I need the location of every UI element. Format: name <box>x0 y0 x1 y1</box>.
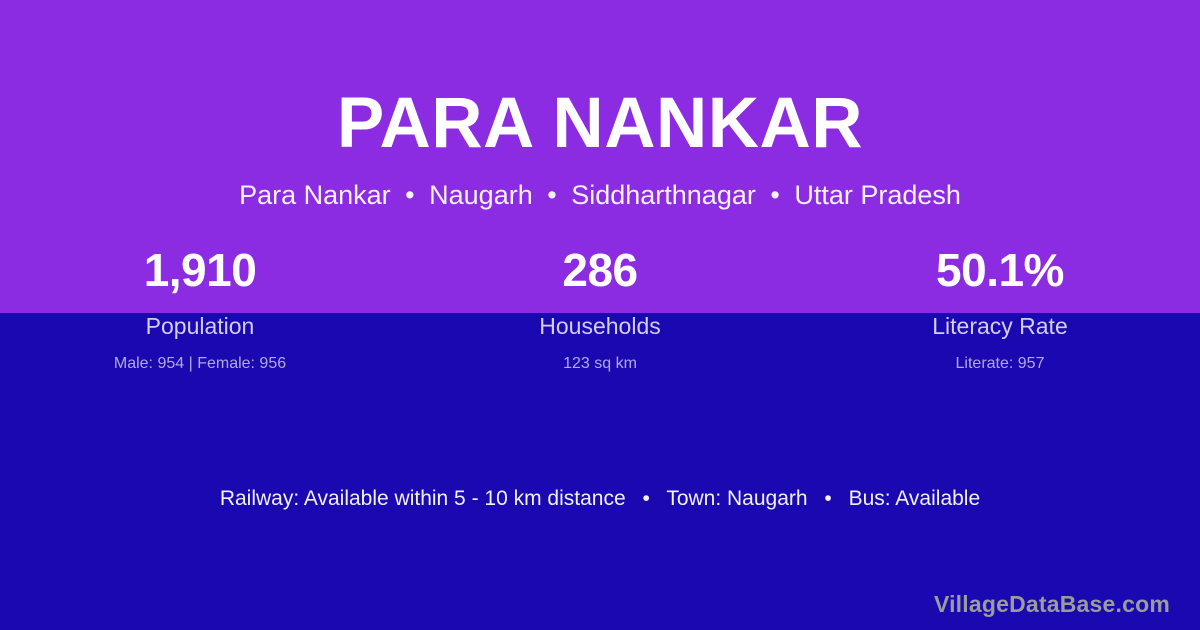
breadcrumb-item-block: Naugarh <box>429 180 533 210</box>
stat-households-value: 286 <box>400 247 800 303</box>
breadcrumb-separator: • <box>398 181 421 211</box>
breadcrumb-separator: • <box>763 181 786 211</box>
stat-population-label: Population <box>0 303 400 338</box>
statistics-row: 1,910 Population Male: 954 | Female: 956… <box>0 247 1200 372</box>
stat-literacy-rate-count: Literate: 957 <box>800 338 1200 372</box>
brand-watermark: VillageDataBase.com <box>934 593 1170 616</box>
breadcrumb-item-village: Para Nankar <box>239 180 391 210</box>
amenity-railway: Railway: Available within 5 - 10 km dist… <box>220 487 626 510</box>
amenity-bus: Bus: Available <box>849 487 981 510</box>
breadcrumb-item-district: Siddharthnagar <box>571 180 756 210</box>
amenity-town: Town: Naugarh <box>666 487 807 510</box>
card-header: PARA NANKAR Para Nankar • Naugarh • Sidd… <box>0 0 1200 211</box>
amenities-line: Railway: Available within 5 - 10 km dist… <box>0 486 1200 511</box>
village-info-card: PARA NANKAR Para Nankar • Naugarh • Sidd… <box>0 0 1200 630</box>
stat-population-value: 1,910 <box>0 247 400 303</box>
stat-households: 286 Households 123 sq km <box>400 247 800 372</box>
stat-literacy-rate-label: Literacy Rate <box>800 303 1200 338</box>
stat-literacy-rate: 50.1% Literacy Rate Literate: 957 <box>800 247 1200 372</box>
page-title: PARA NANKAR <box>0 0 1200 159</box>
amenity-separator: • <box>631 486 660 511</box>
amenity-separator: • <box>813 486 842 511</box>
stat-population: 1,910 Population Male: 954 | Female: 956 <box>0 247 400 372</box>
breadcrumb-separator: • <box>540 181 563 211</box>
breadcrumb-item-state: Uttar Pradesh <box>794 180 961 210</box>
stat-population-breakdown: Male: 954 | Female: 956 <box>0 338 400 372</box>
stat-households-area: 123 sq km <box>400 338 800 372</box>
breadcrumb: Para Nankar • Naugarh • Siddharthnagar •… <box>0 159 1200 211</box>
stat-literacy-rate-value: 50.1% <box>800 247 1200 303</box>
stat-households-label: Households <box>400 303 800 338</box>
